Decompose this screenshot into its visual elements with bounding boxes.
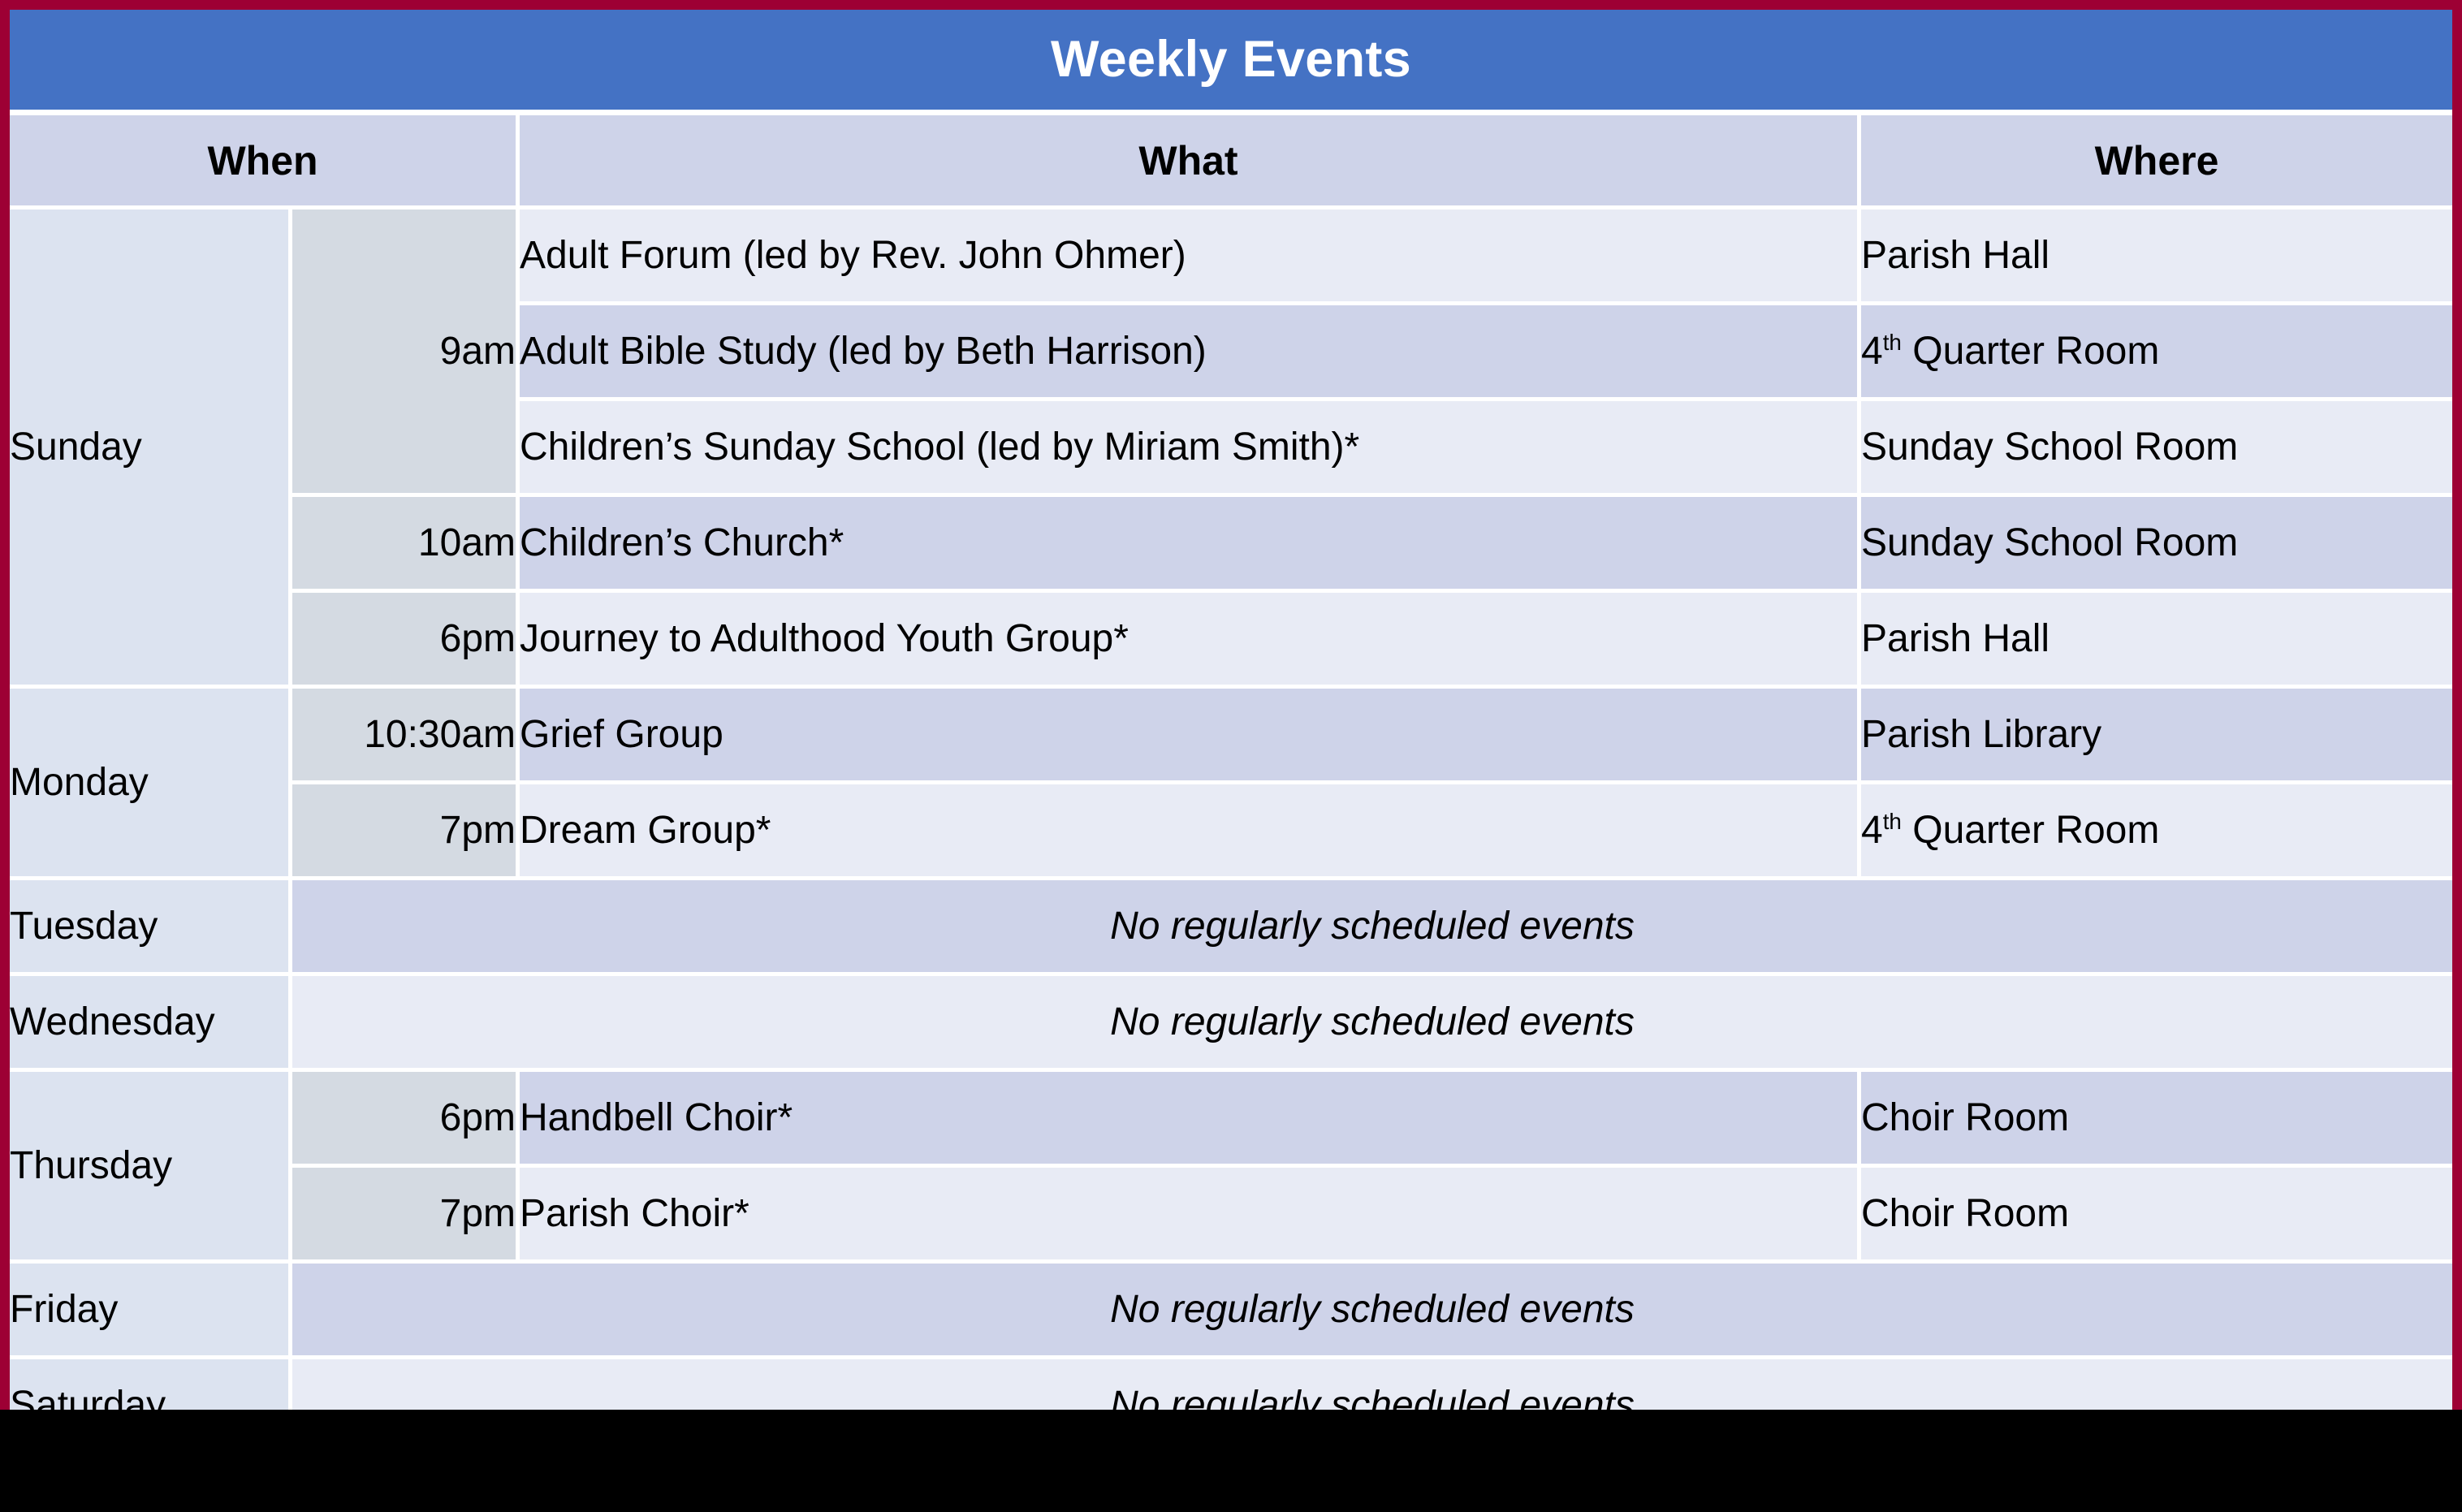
event-cell-adult-forum: Adult Forum (led by Rev. John Ohmer) (520, 210, 1861, 305)
location-rest: Quarter Room (1902, 330, 2159, 373)
ordinal-number: 4 (1861, 809, 1883, 852)
column-header-when: When (10, 115, 520, 210)
page-title: Weekly Events (1051, 34, 1411, 85)
time-cell-6pm-thursday: 6pm (292, 1072, 520, 1168)
table-row: 7pm Dream Group* 4th Quarter Room (10, 784, 2452, 880)
day-cell-thursday: Thursday (10, 1072, 292, 1264)
event-cell-dream-group: Dream Group* (520, 784, 1861, 880)
event-cell-handbell-choir: Handbell Choir* (520, 1072, 1861, 1168)
event-cell-adult-bible-study: Adult Bible Study (led by Beth Harrison) (520, 305, 1861, 401)
no-events-cell-friday: No regularly scheduled events (292, 1264, 2452, 1359)
location-cell-parish-library: Parish Library (1861, 689, 2452, 784)
event-cell-childrens-sunday-school: Children’s Sunday School (led by Miriam … (520, 401, 1861, 497)
footer-black-bar (0, 1410, 2462, 1512)
location-cell-parish-hall-2: Parish Hall (1861, 593, 2452, 689)
slide-frame: Weekly Events When What Where Sunday 9am (0, 0, 2462, 1410)
table-row: 7pm Parish Choir* Choir Room (10, 1168, 2452, 1264)
time-cell-7pm-thursday: 7pm (292, 1168, 520, 1264)
time-cell-10am: 10am (292, 497, 520, 593)
location-cell-choir-room-2: Choir Room (1861, 1168, 2452, 1264)
time-cell-1030am: 10:30am (292, 689, 520, 784)
table-header-row: When What Where (10, 115, 2452, 210)
location-cell-4th-quarter-room: 4th Quarter Room (1861, 305, 2452, 401)
time-cell-9am: 9am (292, 210, 520, 497)
day-cell-monday: Monday (10, 689, 292, 880)
column-header-where: Where (1861, 115, 2452, 210)
table-row: Monday 10:30am Grief Group Parish Librar… (10, 689, 2452, 784)
ordinal-suffix: th (1883, 809, 1902, 834)
table-row: Thursday 6pm Handbell Choir* Choir Room (10, 1072, 2452, 1168)
event-cell-grief-group: Grief Group (520, 689, 1861, 784)
day-cell-wednesday: Wednesday (10, 976, 292, 1072)
table-row: Sunday 9am Adult Forum (led by Rev. John… (10, 210, 2452, 305)
ordinal-number: 4 (1861, 330, 1883, 373)
event-cell-childrens-church: Children’s Church* (520, 497, 1861, 593)
table-row: 10am Children’s Church* Sunday School Ro… (10, 497, 2452, 593)
event-cell-journey-to-adulthood: Journey to Adulthood Youth Group* (520, 593, 1861, 689)
location-cell-choir-room: Choir Room (1861, 1072, 2452, 1168)
event-cell-parish-choir: Parish Choir* (520, 1168, 1861, 1264)
table-row: Friday No regularly scheduled events (10, 1264, 2452, 1359)
no-events-cell-tuesday: No regularly scheduled events (292, 880, 2452, 976)
weekly-events-table-container: Weekly Events When What Where Sunday 9am (10, 10, 2452, 1400)
table-row: Tuesday No regularly scheduled events (10, 880, 2452, 976)
location-cell-sunday-school-room: Sunday School Room (1861, 401, 2452, 497)
table-row: Wednesday No regularly scheduled events (10, 976, 2452, 1072)
title-bar: Weekly Events (10, 10, 2452, 110)
ordinal-suffix: th (1883, 330, 1902, 355)
time-cell-7pm-monday: 7pm (292, 784, 520, 880)
day-cell-tuesday: Tuesday (10, 880, 292, 976)
day-cell-sunday: Sunday (10, 210, 292, 689)
location-cell-4th-quarter-room-2: 4th Quarter Room (1861, 784, 2452, 880)
table-row: 6pm Journey to Adulthood Youth Group* Pa… (10, 593, 2452, 689)
location-cell-parish-hall: Parish Hall (1861, 210, 2452, 305)
day-cell-friday: Friday (10, 1264, 292, 1359)
location-cell-sunday-school-room-2: Sunday School Room (1861, 497, 2452, 593)
time-cell-6pm-sunday: 6pm (292, 593, 520, 689)
no-events-cell-wednesday: No regularly scheduled events (292, 976, 2452, 1072)
location-rest: Quarter Room (1902, 809, 2159, 852)
column-header-what: What (520, 115, 1861, 210)
weekly-events-table: When What Where Sunday 9am Adult Forum (… (10, 115, 2452, 1455)
